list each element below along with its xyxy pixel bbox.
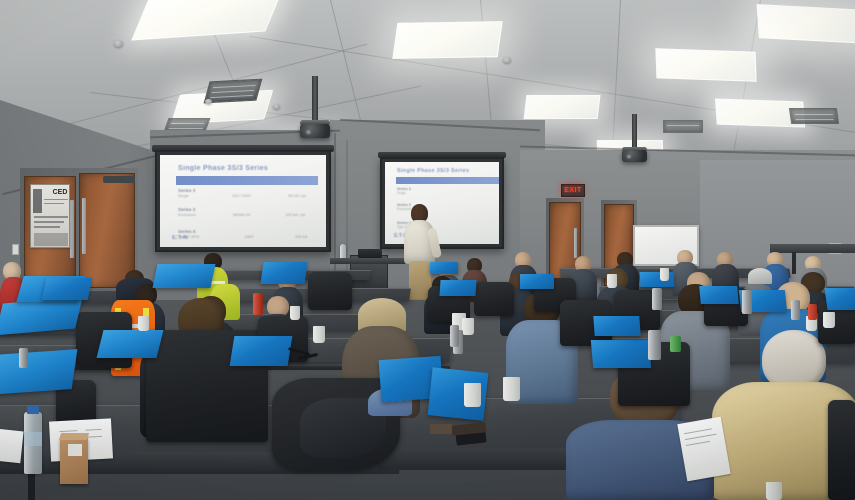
table-leg	[28, 470, 35, 500]
poster-logo: CED	[51, 189, 69, 196]
slide-title: Single Phase 3S/3 Series	[397, 168, 494, 174]
tote-bag	[230, 336, 293, 366]
tote-bag	[260, 262, 307, 284]
projector-lens-icon	[626, 154, 632, 159]
tote-bag	[42, 278, 93, 300]
red-can	[808, 304, 817, 320]
poster-text-line	[34, 221, 64, 223]
slide-header-bar	[396, 177, 499, 184]
paper-text-line	[684, 428, 712, 434]
projector-lens-icon	[305, 129, 312, 135]
ceiling-light	[655, 48, 756, 81]
ceiling-light	[757, 4, 855, 44]
poster-text-line	[34, 226, 60, 228]
paper-text-line	[85, 429, 101, 431]
travel-tumbler	[652, 288, 662, 310]
smoke-detector-icon	[205, 99, 212, 104]
smoke-detector-icon	[503, 57, 511, 63]
tote-bag	[97, 330, 164, 358]
door-poster: CED	[30, 184, 70, 248]
slide-row: Surge 120 / 240V 50 kA / ph	[178, 193, 318, 198]
slide-body: Series 3 Surge 120 / 240V 50 kA / ph Ser…	[178, 188, 318, 239]
travel-tumbler	[791, 300, 800, 320]
poster-text-line	[34, 216, 68, 218]
slide-row: Surge	[397, 191, 494, 195]
projector-mount-pole	[312, 76, 318, 124]
screen-surface-left: Single Phase 3S/3 Series Series 3 Surge …	[160, 155, 326, 247]
slide-left: Single Phase 3S/3 Series Series 3 Surge …	[160, 155, 326, 247]
slide-title: Single Phase 3S/3 Series	[178, 165, 318, 172]
slide-cell: 120 / 240V	[232, 193, 251, 198]
slide-header-bar	[176, 176, 318, 185]
travel-tumbler	[253, 293, 263, 315]
slide-cell: 100 kA / ph	[285, 212, 305, 217]
handout-paper	[0, 429, 24, 464]
attendee-head	[762, 330, 826, 390]
ceiling-vent	[204, 79, 263, 104]
chair[interactable]	[828, 400, 855, 500]
light-switch-plate[interactable]	[12, 244, 19, 255]
green-can	[670, 336, 681, 352]
paper-cup	[823, 312, 835, 328]
chair[interactable]	[474, 282, 514, 316]
tote-bag	[824, 288, 855, 310]
paper-text-line	[60, 430, 78, 432]
slide-cell: 200 kA	[295, 234, 307, 239]
chair[interactable]	[308, 272, 352, 310]
paper-cup	[313, 326, 325, 343]
poster-text-line	[44, 203, 64, 204]
tote-bag	[0, 349, 77, 395]
projection-screen-left: Single Phase 3S/3 Series Series 3 Surge …	[155, 150, 331, 252]
door-push-bar[interactable]	[70, 200, 74, 258]
slide-row: Enclosure NEMA 4X 100 kA / ph	[178, 212, 318, 217]
door-push-bar[interactable]	[82, 198, 86, 254]
tote-bag	[520, 274, 554, 289]
paper-text-line	[685, 434, 717, 441]
tote-bag	[152, 264, 215, 288]
paper-cup	[660, 268, 669, 281]
cardboard-box	[60, 438, 88, 484]
slide-logo: E:T-N	[172, 235, 188, 241]
ceiling-light	[392, 21, 502, 59]
tote-bag	[639, 272, 674, 287]
slide-cell: 50 kA / ph	[288, 193, 306, 198]
ceiling-vent	[663, 120, 703, 133]
paper-cup	[464, 383, 481, 407]
slide-cell: Enclosure	[178, 212, 196, 217]
poster-text-line	[44, 199, 68, 200]
paper-cup	[607, 274, 617, 288]
rear-counter-leg	[792, 252, 796, 274]
door-closer	[103, 176, 135, 183]
ceiling-light	[524, 95, 601, 119]
paper-cup	[503, 377, 520, 401]
tote-bag	[593, 316, 640, 336]
notebook	[430, 424, 452, 434]
poster-body	[34, 233, 68, 246]
tote-bag	[439, 280, 476, 296]
tote-bag	[430, 262, 458, 274]
box-label	[68, 444, 82, 456]
smoke-detector-icon	[114, 40, 123, 47]
bottle-label	[24, 432, 42, 446]
projector-mount-pole	[632, 114, 637, 150]
slide-cell: Surge	[178, 193, 189, 198]
slide-cell: 240V	[244, 234, 253, 239]
travel-tumbler	[648, 330, 661, 360]
door-push-bar[interactable]	[574, 228, 577, 258]
tote-bag	[591, 340, 651, 368]
paper-text-line	[686, 441, 710, 446]
tote-bag	[699, 286, 739, 304]
laptop[interactable]	[358, 249, 382, 258]
paper-cup	[462, 318, 474, 335]
paper-cup	[290, 306, 300, 320]
slide-right: Single Phase 3S/3 Series Series 3 Surge …	[385, 162, 499, 244]
exit-sign: EXIT	[561, 184, 585, 197]
travel-tumbler	[19, 348, 28, 368]
bottle-cap	[27, 406, 39, 414]
exit-sign-label: EXIT	[564, 187, 582, 194]
travel-tumbler	[742, 290, 752, 314]
classroom-photo: Single Phase 3S/3 Series Series 3 Surge …	[0, 0, 855, 500]
travel-tumbler	[450, 325, 459, 347]
paper-cup	[766, 482, 782, 500]
smoke-detector-icon	[273, 104, 280, 109]
slide-cell: NEMA 4X	[233, 212, 250, 217]
slide-row: Type 2 SPD 240V 200 kA	[178, 234, 318, 239]
ceiling-vent	[789, 108, 839, 124]
screen-surface-right: Single Phase 3S/3 Series Series 3 Surge …	[385, 162, 499, 244]
paper-cup	[138, 316, 149, 331]
cardboard-box-top	[59, 433, 89, 440]
poster-barcode	[33, 189, 42, 213]
projection-screen-right: Single Phase 3S/3 Series Series 3 Surge …	[380, 157, 504, 249]
